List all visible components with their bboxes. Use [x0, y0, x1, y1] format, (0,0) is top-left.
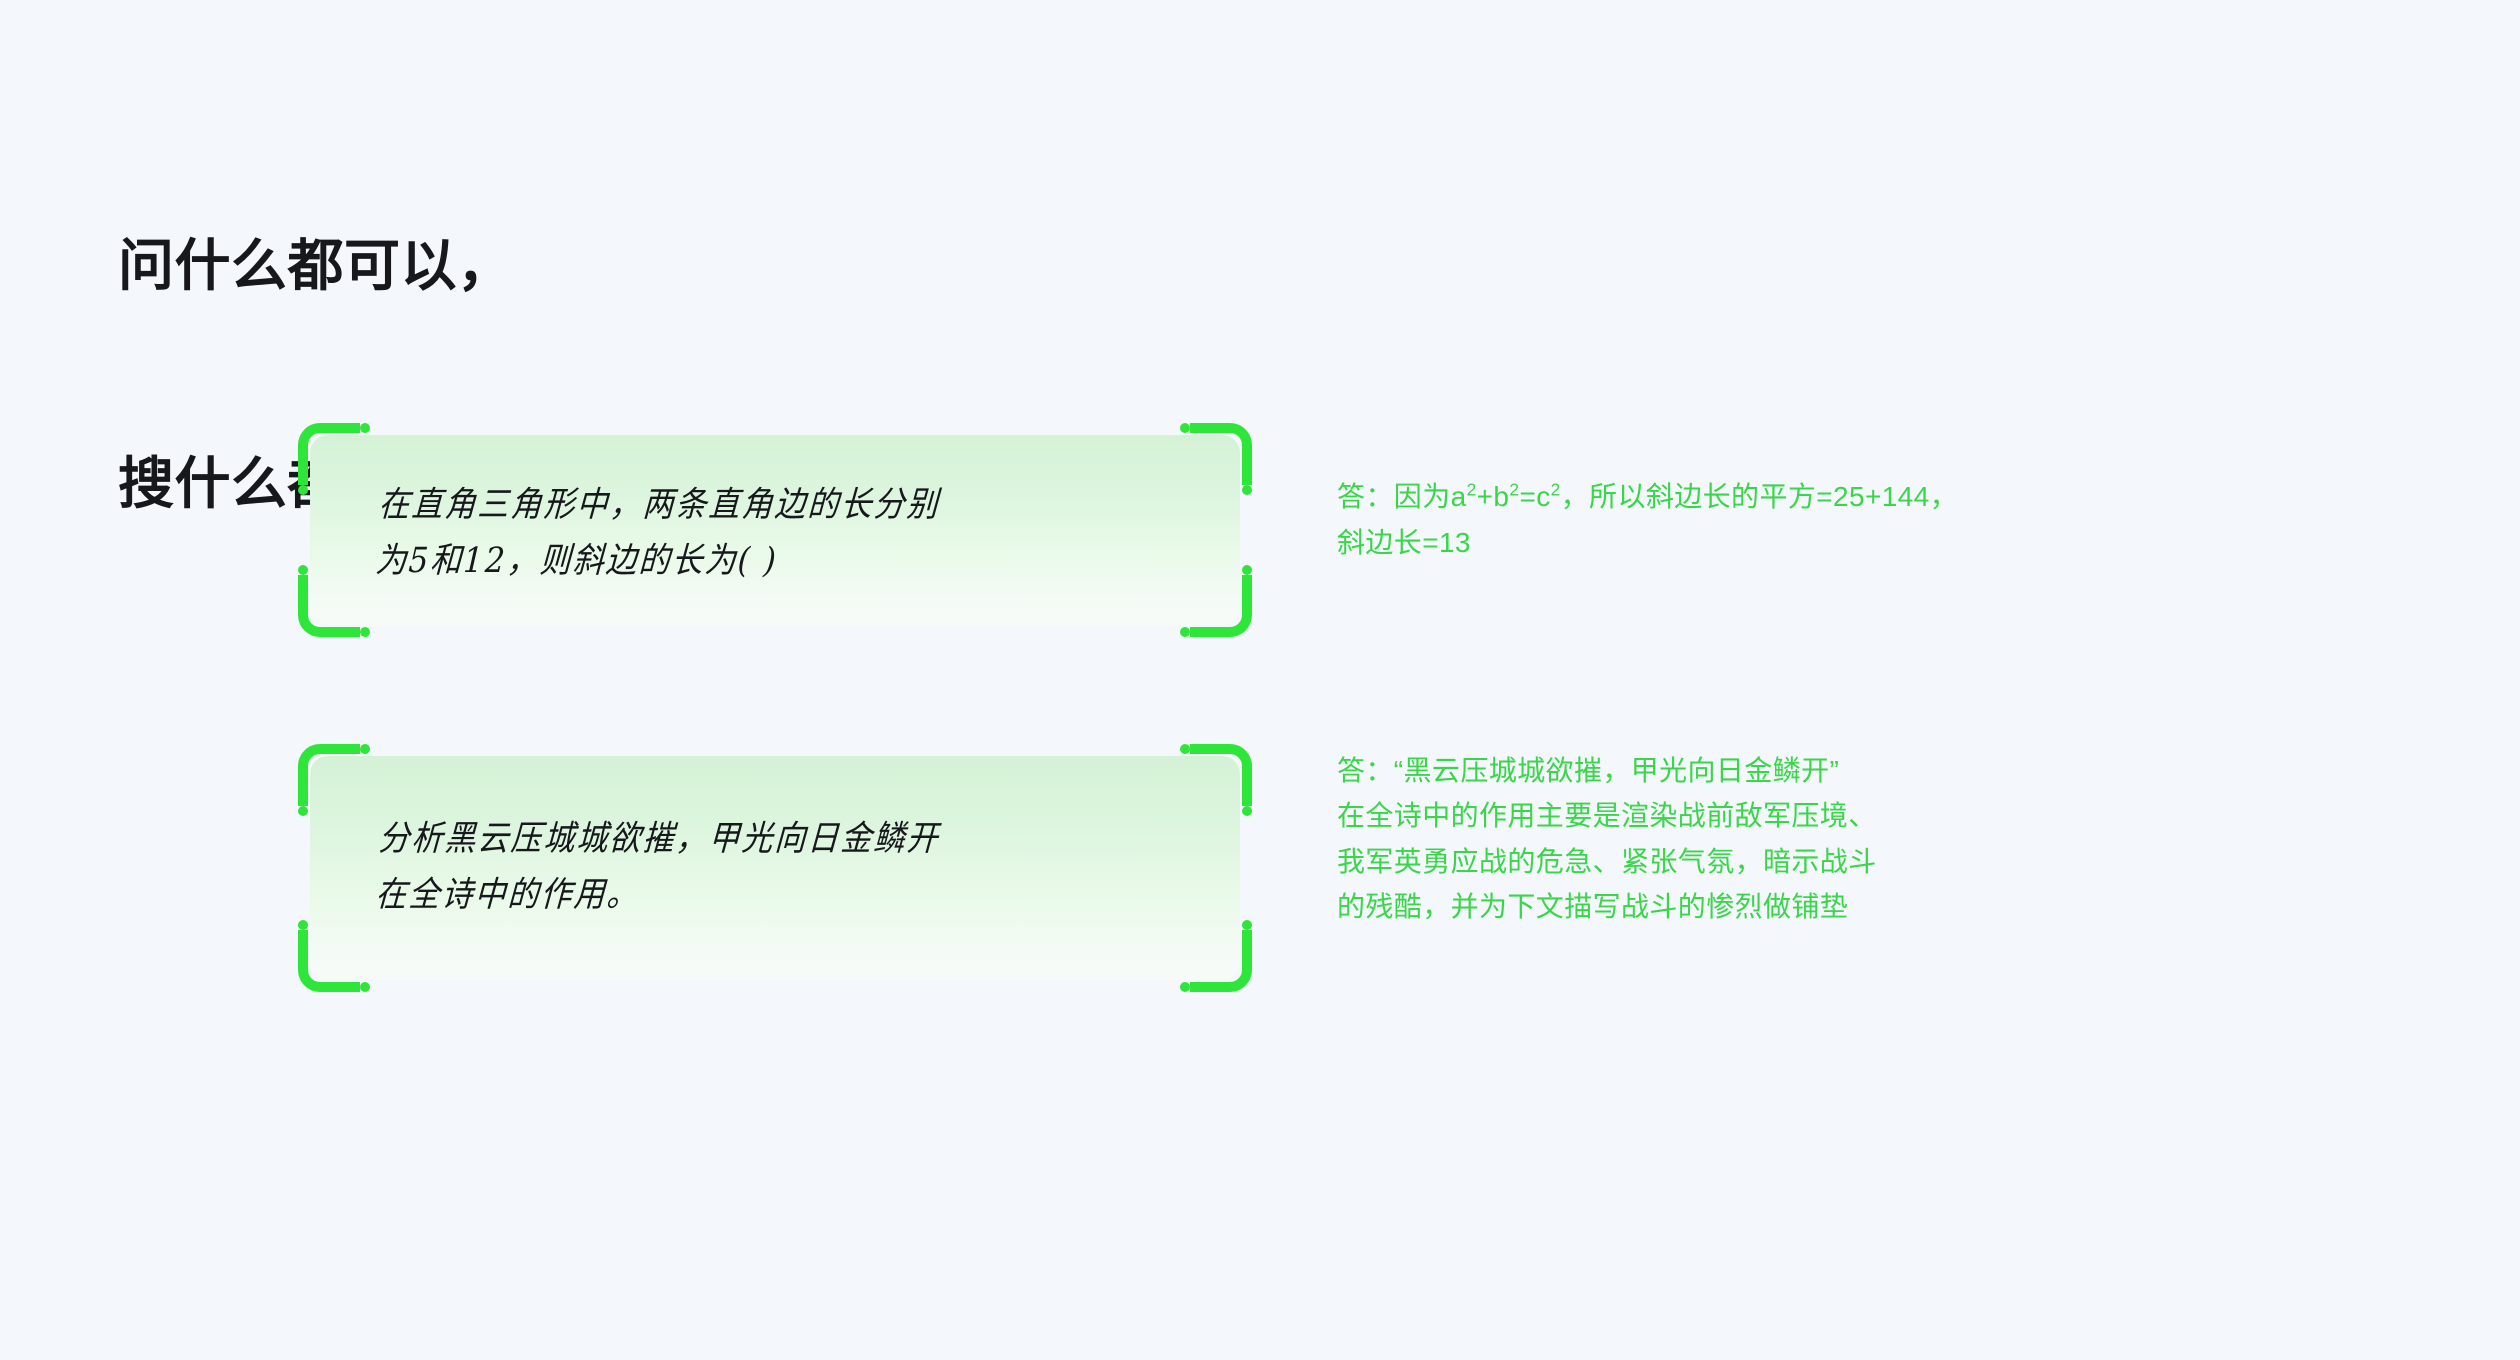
- question-card[interactable]: 在直角三角形中，两条直角边的长分别 为5和12，则斜边的长为( ): [310, 435, 1240, 625]
- answer-segment: 答：因为a: [1337, 481, 1467, 512]
- answer-superscript: 2: [1509, 480, 1519, 500]
- answer-text: 答：“黑云压城城欲摧，甲光向日金鳞开” 在全诗中的作用主要是渲染战前敌军压境、 …: [1337, 748, 2377, 929]
- answer-text: 答：因为a2+b2=c2，所以斜边长的平方=25+144， 斜边长=13: [1337, 429, 2377, 565]
- question-text: 在直角三角形中，两条直角边的长分别 为5和12，则斜边的长为( ): [374, 477, 1200, 589]
- corner-bracket-bottom-right-icon: [1190, 930, 1252, 992]
- answer-superscript: 2: [1467, 480, 1477, 500]
- question-card[interactable]: 分析黑云压城城欲摧，甲光向日金鳞开 在全诗中的作用。: [310, 756, 1240, 980]
- question-text: 分析黑云压城城欲摧，甲光向日金鳞开 在全诗中的作用。: [374, 811, 1200, 923]
- corner-bracket-bottom-left-icon: [298, 930, 360, 992]
- page-title-line-1: 问什么都可以，: [118, 230, 570, 303]
- corner-bracket-top-right-icon: [1190, 744, 1252, 806]
- answer-segment: =c: [1519, 481, 1550, 512]
- answer-segment: +b: [1477, 481, 1510, 512]
- answer-superscript: 2: [1551, 480, 1561, 500]
- corner-bracket-bottom-right-icon: [1190, 575, 1252, 637]
- corner-bracket-top-left-icon: [298, 744, 360, 806]
- corner-bracket-top-right-icon: [1190, 423, 1252, 485]
